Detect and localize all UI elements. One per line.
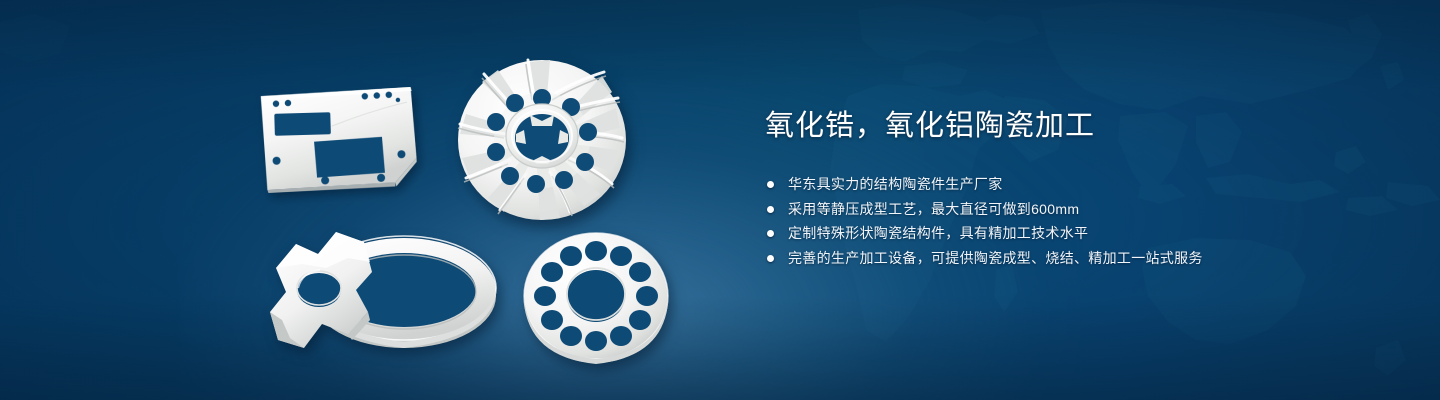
list-item-label: 华东具实力的结构陶瓷件生产厂家 bbox=[788, 176, 1003, 192]
ceramic-plate-icon bbox=[257, 84, 422, 194]
cross-and-ring-icon bbox=[252, 228, 514, 356]
ceramic-holed-annulus bbox=[518, 228, 674, 364]
product-photo-group bbox=[0, 0, 720, 400]
bullet-dot-icon bbox=[767, 181, 774, 188]
list-item-label: 定制特殊形状陶瓷结构件，具有精加工技术水平 bbox=[788, 225, 1088, 241]
list-item: 华东具实力的结构陶瓷件生产厂家 bbox=[765, 172, 1385, 197]
banner-copy: 氧化锆，氧化铝陶瓷加工 华东具实力的结构陶瓷件生产厂家 采用等静压成型工艺，最大… bbox=[765, 106, 1385, 270]
list-item: 完善的生产加工设备，可提供陶瓷成型、烧结、精加工一站式服务 bbox=[765, 246, 1385, 271]
impeller-icon bbox=[452, 52, 632, 224]
list-item-label: 采用等静压成型工艺，最大直径可做到600mm bbox=[788, 201, 1079, 217]
list-item-label: 完善的生产加工设备，可提供陶瓷成型、烧结、精加工一站式服务 bbox=[788, 250, 1203, 266]
bullet-dot-icon bbox=[767, 255, 774, 262]
annulus-disc-icon bbox=[518, 228, 674, 364]
ceramic-cross-part-and-ring bbox=[252, 228, 514, 356]
bullet-dot-icon bbox=[767, 230, 774, 237]
bullet-dot-icon bbox=[767, 206, 774, 213]
machined-ceramic-plate bbox=[257, 84, 422, 194]
list-item: 采用等静压成型工艺，最大直径可做到600mm bbox=[765, 197, 1385, 222]
page-title: 氧化锆，氧化铝陶瓷加工 bbox=[765, 106, 1385, 146]
hero-banner: 氧化锆，氧化铝陶瓷加工 华东具实力的结构陶瓷件生产厂家 采用等静压成型工艺，最大… bbox=[0, 0, 1440, 400]
list-item: 定制特殊形状陶瓷结构件，具有精加工技术水平 bbox=[765, 221, 1385, 246]
ceramic-vaned-impeller bbox=[452, 52, 632, 224]
feature-list: 华东具实力的结构陶瓷件生产厂家 采用等静压成型工艺，最大直径可做到600mm 定… bbox=[765, 172, 1385, 270]
